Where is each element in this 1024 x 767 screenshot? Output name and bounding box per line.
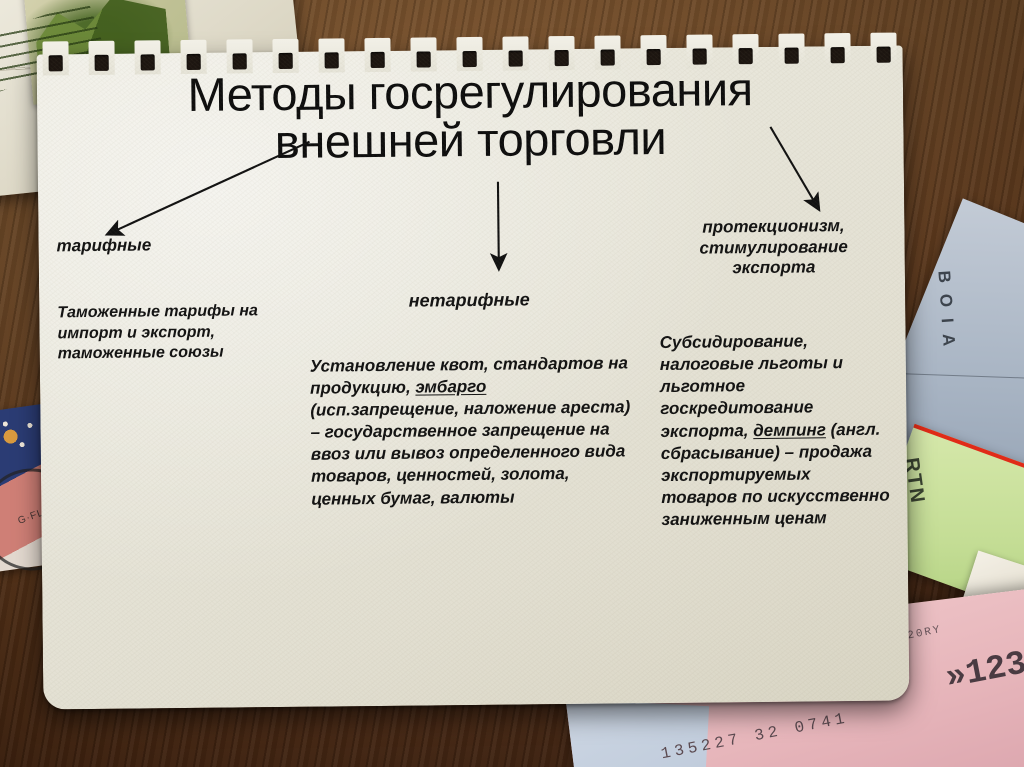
page-title: Методы госрегулирования внешней торговли — [37, 63, 904, 168]
slide-canvas: G·FL BOIA RTN 26592 Lands Und 0120RY »12… — [0, 0, 1024, 767]
column-heading-protekcionizm: протекционизм, стимулирование экспорта — [658, 216, 889, 281]
notepad-sheet: Методы госрегулирования внешней торговли… — [37, 45, 910, 709]
column-tarifnye: тарифные Таможенные тарифы на импорт и э… — [56, 234, 307, 366]
ticket-pink-big: »123 — [943, 645, 1024, 698]
ticket-blue-label: BOIA — [933, 270, 959, 358]
column-body-netarifnye: Установление квот, стандартов на продукц… — [310, 352, 632, 510]
notepad-content: Методы госрегулирования внешней торговли… — [37, 45, 910, 709]
column-heading-tarifnye: тарифные — [56, 234, 306, 257]
column-body-protekcionizm: Субсидирование, налоговые льготы и льгот… — [660, 330, 892, 531]
netarifnye-text-part2: (исп.запрещение, наложение ареста) – гос… — [310, 397, 630, 508]
title-line-2: внешней торговли — [37, 111, 903, 168]
ticket-blue-line — [889, 373, 1024, 382]
netarifnye-term-embargo: эмбарго — [415, 377, 486, 397]
column-netarifnye: нетарифные Установление квот, стандартов… — [309, 288, 631, 510]
arrow-middle — [498, 182, 499, 268]
column-protekcionizm: протекционизм, стимулирование экспорта С… — [658, 216, 891, 531]
protekcionizm-term-demping: демпинг — [753, 420, 826, 440]
column-body-tarifnye: Таможенные тарифы на импорт и экспорт, т… — [57, 300, 308, 365]
column-heading-netarifnye: нетарифные — [309, 288, 629, 313]
